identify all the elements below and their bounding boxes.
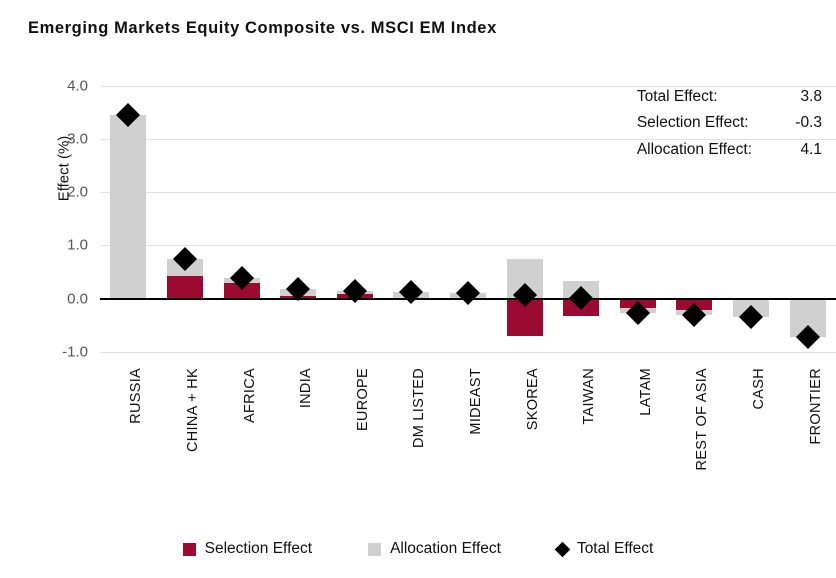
x-tick: FRONTIER (733, 368, 836, 508)
y-tick-label: 4.0 (67, 77, 88, 94)
bar-group[interactable] (157, 78, 214, 365)
y-tick-label: 0.0 (67, 290, 88, 307)
bar-group[interactable] (553, 78, 610, 365)
total-effect-marker[interactable] (399, 280, 423, 304)
bar-group[interactable] (326, 78, 383, 365)
legend-label: Total Effect (577, 540, 653, 558)
bar-group[interactable] (100, 78, 157, 365)
bar-group[interactable] (270, 78, 327, 365)
legend-label: Selection Effect (205, 540, 312, 558)
y-tick-label: -1.0 (62, 343, 88, 360)
color-swatch-icon (368, 543, 381, 556)
bar-group[interactable] (213, 78, 270, 365)
summary-stat-value: -0.3 (778, 110, 822, 136)
summary-stat-label: Total Effect: (637, 84, 778, 110)
summary-stat-value: 4.1 (778, 137, 822, 163)
legend-item[interactable]: Allocation Effect (368, 540, 501, 558)
selection-effect-bar[interactable] (167, 276, 203, 298)
total-effect-marker[interactable] (456, 281, 480, 305)
chart-legend: Selection EffectAllocation EffectTotal E… (0, 540, 836, 558)
bar-group[interactable] (440, 78, 497, 365)
summary-stat-label: Allocation Effect: (637, 137, 778, 163)
summary-stat-value: 3.8 (778, 84, 822, 110)
legend-label: Allocation Effect (390, 540, 501, 558)
legend-item[interactable]: Total Effect (557, 540, 653, 558)
y-tick-label: 1.0 (67, 237, 88, 254)
summary-stat-row: Allocation Effect:4.1 (637, 137, 822, 163)
summary-stat-row: Selection Effect:-0.3 (637, 110, 822, 136)
y-axis-title: Effect (%) (56, 99, 73, 239)
legend-item[interactable]: Selection Effect (183, 540, 312, 558)
bar-group[interactable] (496, 78, 553, 365)
x-tick-label: FRONTIER (808, 368, 825, 508)
bar-group[interactable] (383, 78, 440, 365)
summary-stats-table: Total Effect:3.8Selection Effect:-0.3All… (637, 84, 822, 163)
y-axis-ticks: 4.03.02.01.00.0-1.0 (0, 78, 100, 365)
summary-stat-label: Selection Effect: (637, 110, 778, 136)
diamond-marker-icon (555, 541, 571, 557)
summary-stats: Total Effect:3.8Selection Effect:-0.3All… (637, 84, 822, 163)
summary-stat-row: Total Effect:3.8 (637, 84, 822, 110)
x-axis-labels: RUSSIACHINA + HKAFRICAINDIAEUROPEDM LIST… (100, 368, 836, 518)
color-swatch-icon (183, 543, 196, 556)
allocation-effect-bar[interactable] (110, 115, 146, 298)
page-title: Emerging Markets Equity Composite vs. MS… (28, 19, 497, 38)
